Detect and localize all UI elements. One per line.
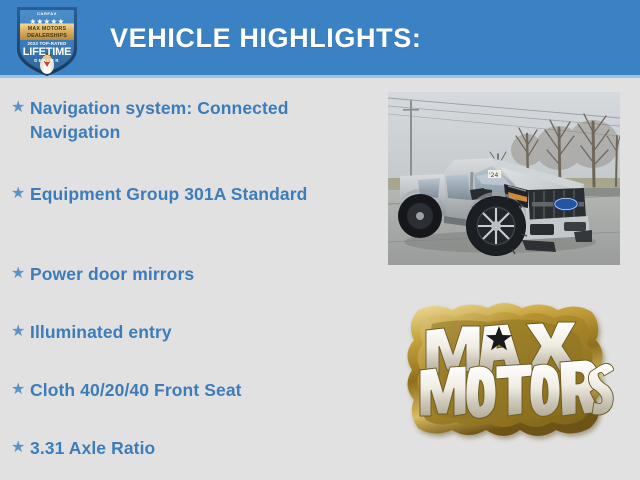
page-title: VEHICLE HIGHLIGHTS: (110, 22, 421, 54)
star-bullet-icon: ★ (8, 436, 30, 460)
list-item-label: Cloth 40/20/40 Front Seat (30, 378, 380, 402)
list-item: ★ Equipment Group 301A Standard (8, 182, 380, 206)
carfax-lifetime-dealer-badge: CARFAX ★★★★★ MAX MOTORS DEALERSHIPS 2023… (14, 3, 80, 79)
list-item-label: Navigation system: Connected Navigation (30, 96, 380, 144)
list-item: ★ Power door mirrors (8, 262, 380, 286)
header-underline-divider (0, 75, 640, 78)
star-bullet-icon: ★ (8, 378, 30, 402)
list-item: ★ Navigation system: Connected Navigatio… (8, 96, 380, 144)
star-bullet-icon: ★ (8, 96, 30, 120)
list-item: ★ Cloth 40/20/40 Front Seat (8, 378, 380, 402)
vehicle-photo[interactable]: '24 (388, 92, 620, 265)
list-item-label: 3.31 Axle Ratio (30, 436, 380, 460)
list-item-label: Power door mirrors (30, 262, 380, 286)
star-bullet-icon: ★ (8, 262, 30, 286)
list-item: ★ Illuminated entry (8, 320, 380, 344)
star-bullet-icon: ★ (8, 182, 30, 206)
star-bullet-icon: ★ (8, 320, 30, 344)
dealer-logo-max-motors[interactable] (396, 296, 614, 444)
slide-root: CARFAX ★★★★★ MAX MOTORS DEALERSHIPS 2023… (0, 0, 640, 480)
carfax-badge-shield-icon (14, 3, 80, 79)
max-motors-logo-icon (396, 296, 614, 444)
list-item: ★ 3.31 Axle Ratio (8, 436, 380, 460)
svg-text:'24: '24 (489, 172, 498, 179)
list-item-label: Illuminated entry (30, 320, 380, 344)
list-item-label: Equipment Group 301A Standard (30, 182, 380, 206)
vehicle-photo-image: '24 (388, 92, 620, 265)
